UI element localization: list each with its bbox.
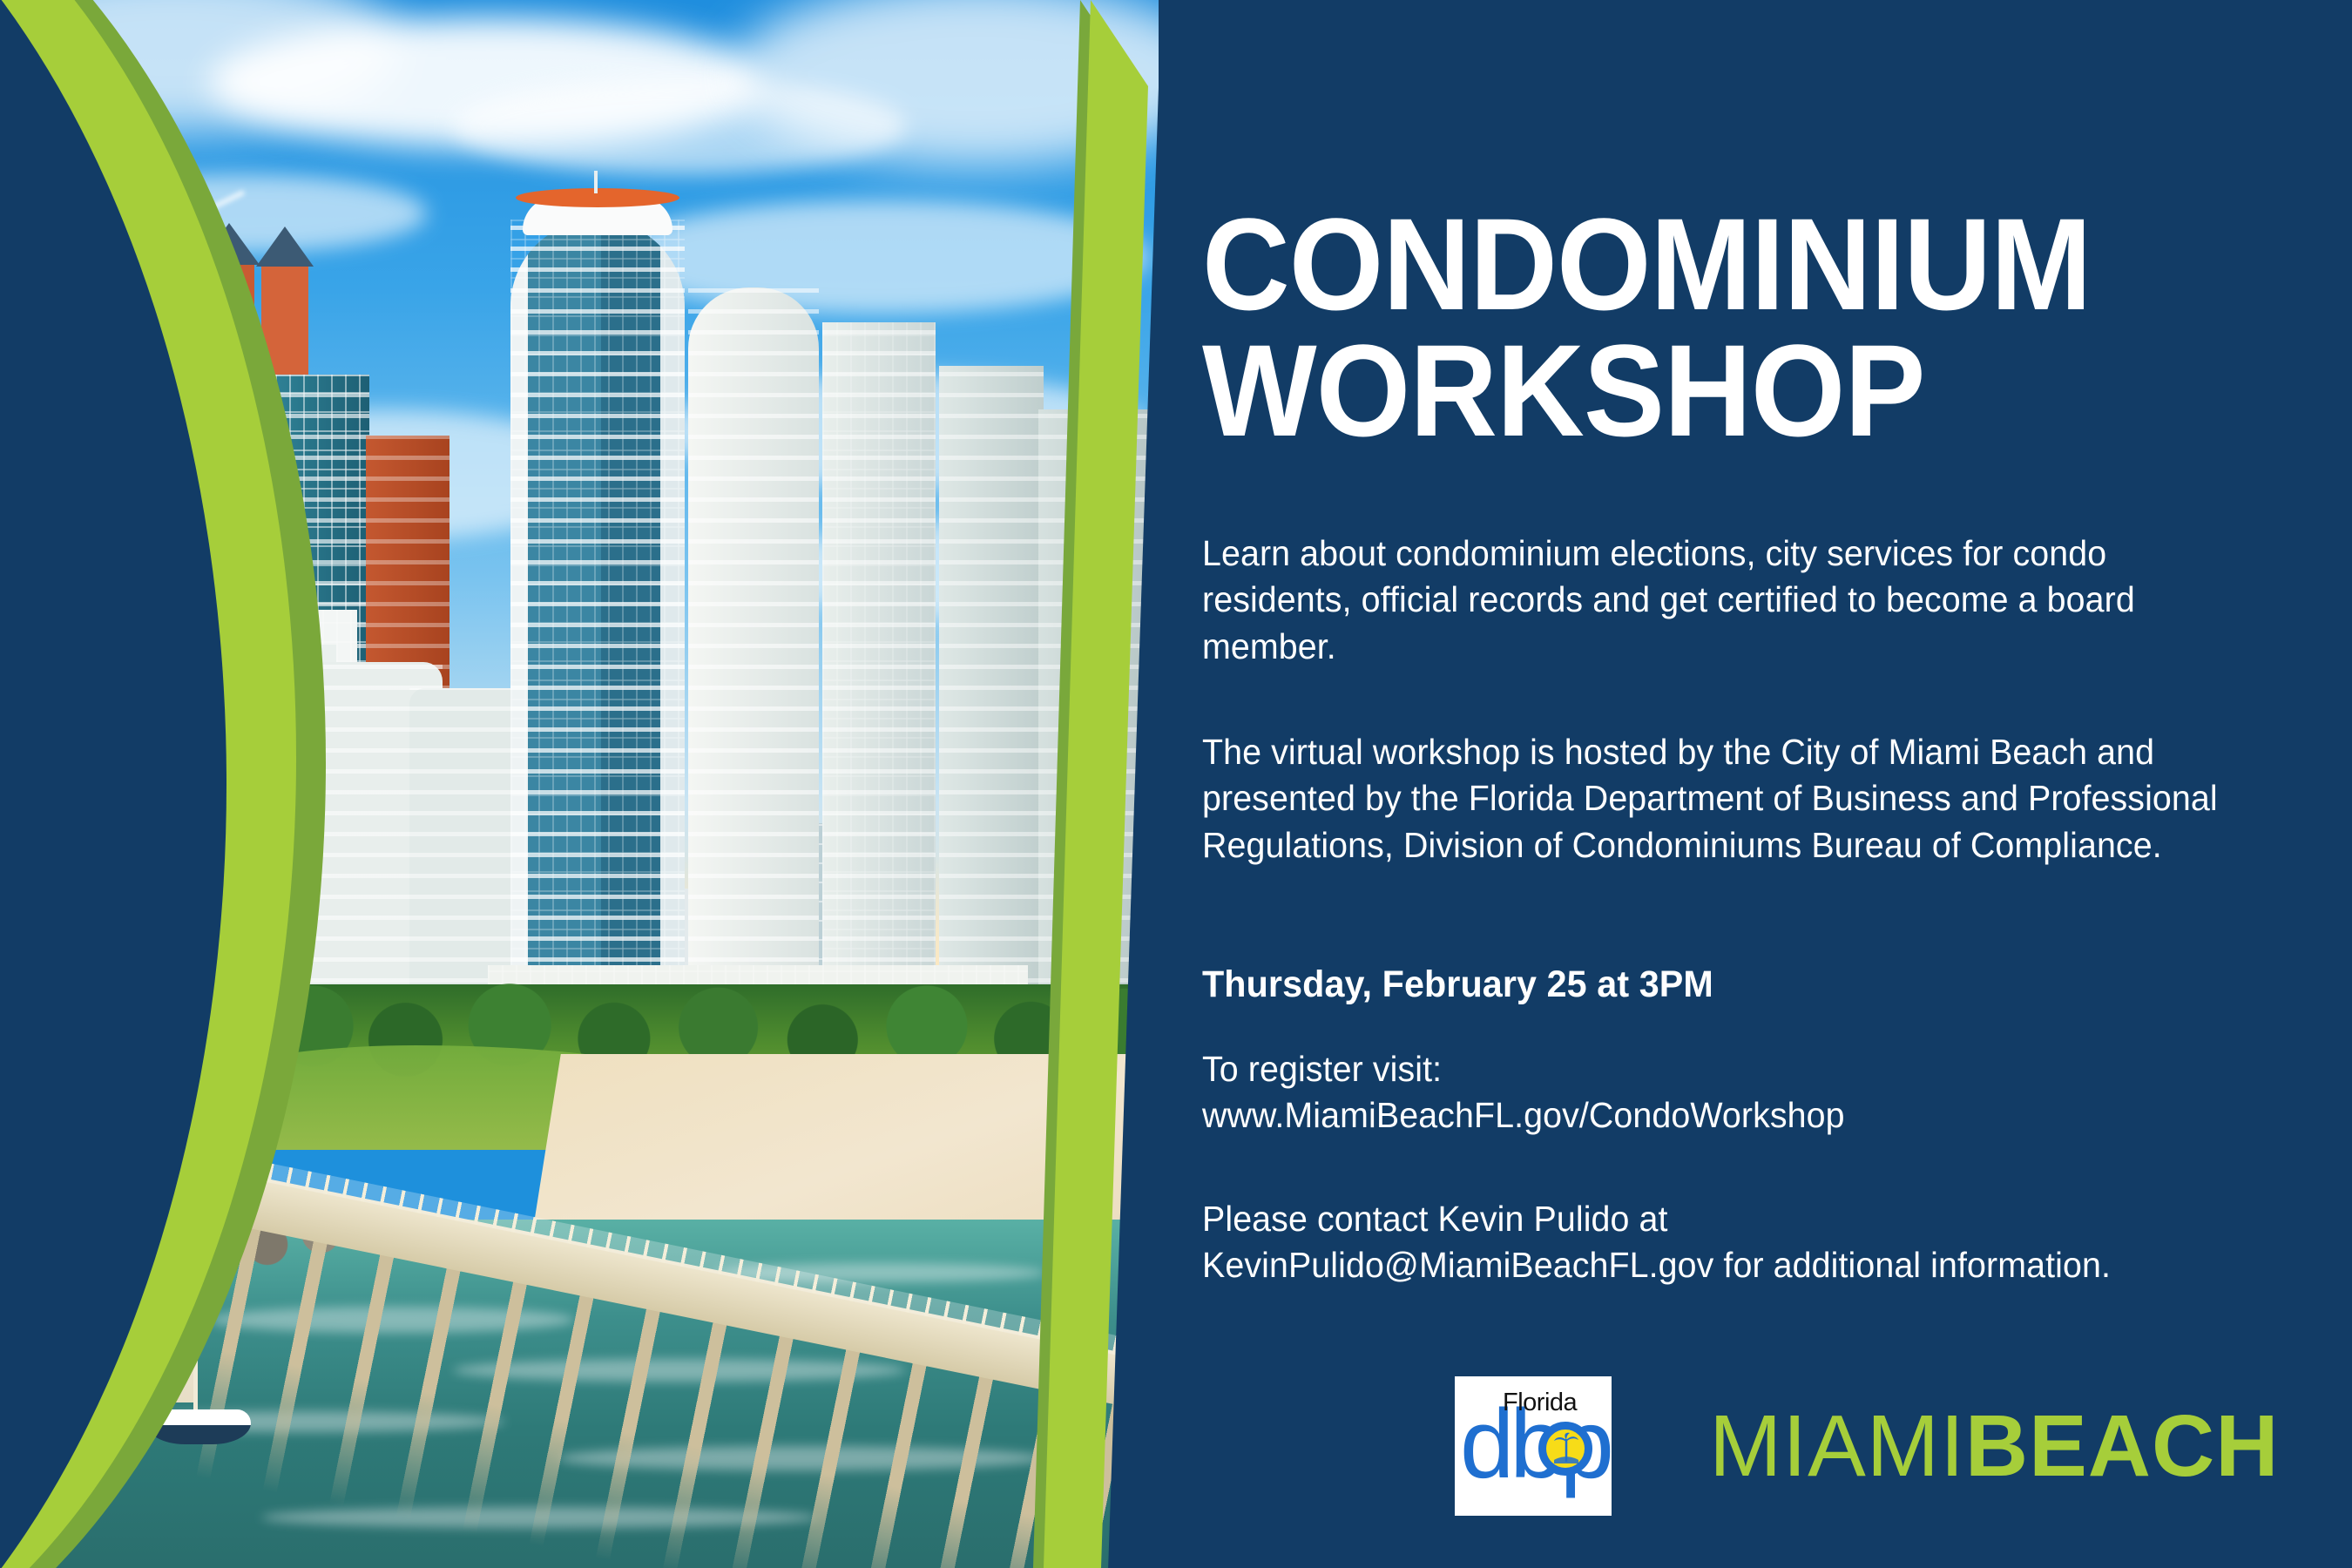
white-tower xyxy=(822,322,936,1045)
contact-info[interactable]: Please contact Kevin Pulido at KevinPuli… xyxy=(1202,1196,2239,1289)
page-title: CONDOMINIUM WORKSHOP xyxy=(1202,201,2272,455)
dbpr-p-bowl xyxy=(1538,1422,1592,1476)
white-tower xyxy=(688,287,819,1045)
tower-antenna xyxy=(594,171,598,193)
logo-row: dbpr Florida MIAMIBEACH xyxy=(1455,1368,2326,1524)
miami-beach-logo-beach: BEACH xyxy=(1965,1397,2280,1495)
intro-paragraph: Learn about condominium elections, city … xyxy=(1202,531,2239,670)
hosting-paragraph: The virtual workshop is hosted by the Ci… xyxy=(1202,729,2239,868)
tower-orange-crown xyxy=(516,188,679,207)
content-column: CONDOMINIUM WORKSHOP Learn about condomi… xyxy=(1202,0,2335,1568)
round-glass-tower xyxy=(510,220,685,1045)
flyer-canvas: CONDOMINIUM WORKSHOP Learn about condomi… xyxy=(0,0,2352,1568)
dbpr-florida-label: Florida xyxy=(1503,1389,1577,1417)
registration-info[interactable]: To register visit: www.MiamiBeachFL.gov/… xyxy=(1202,1046,2239,1139)
event-date-time: Thursday, February 25 at 3PM xyxy=(1202,961,2239,1010)
dbpr-logo: dbpr Florida xyxy=(1455,1376,1612,1516)
white-tower xyxy=(939,366,1044,1045)
miami-beach-logo-miami: MIAMI xyxy=(1709,1397,1965,1495)
miami-beach-logo: MIAMIBEACH xyxy=(1709,1402,2279,1490)
